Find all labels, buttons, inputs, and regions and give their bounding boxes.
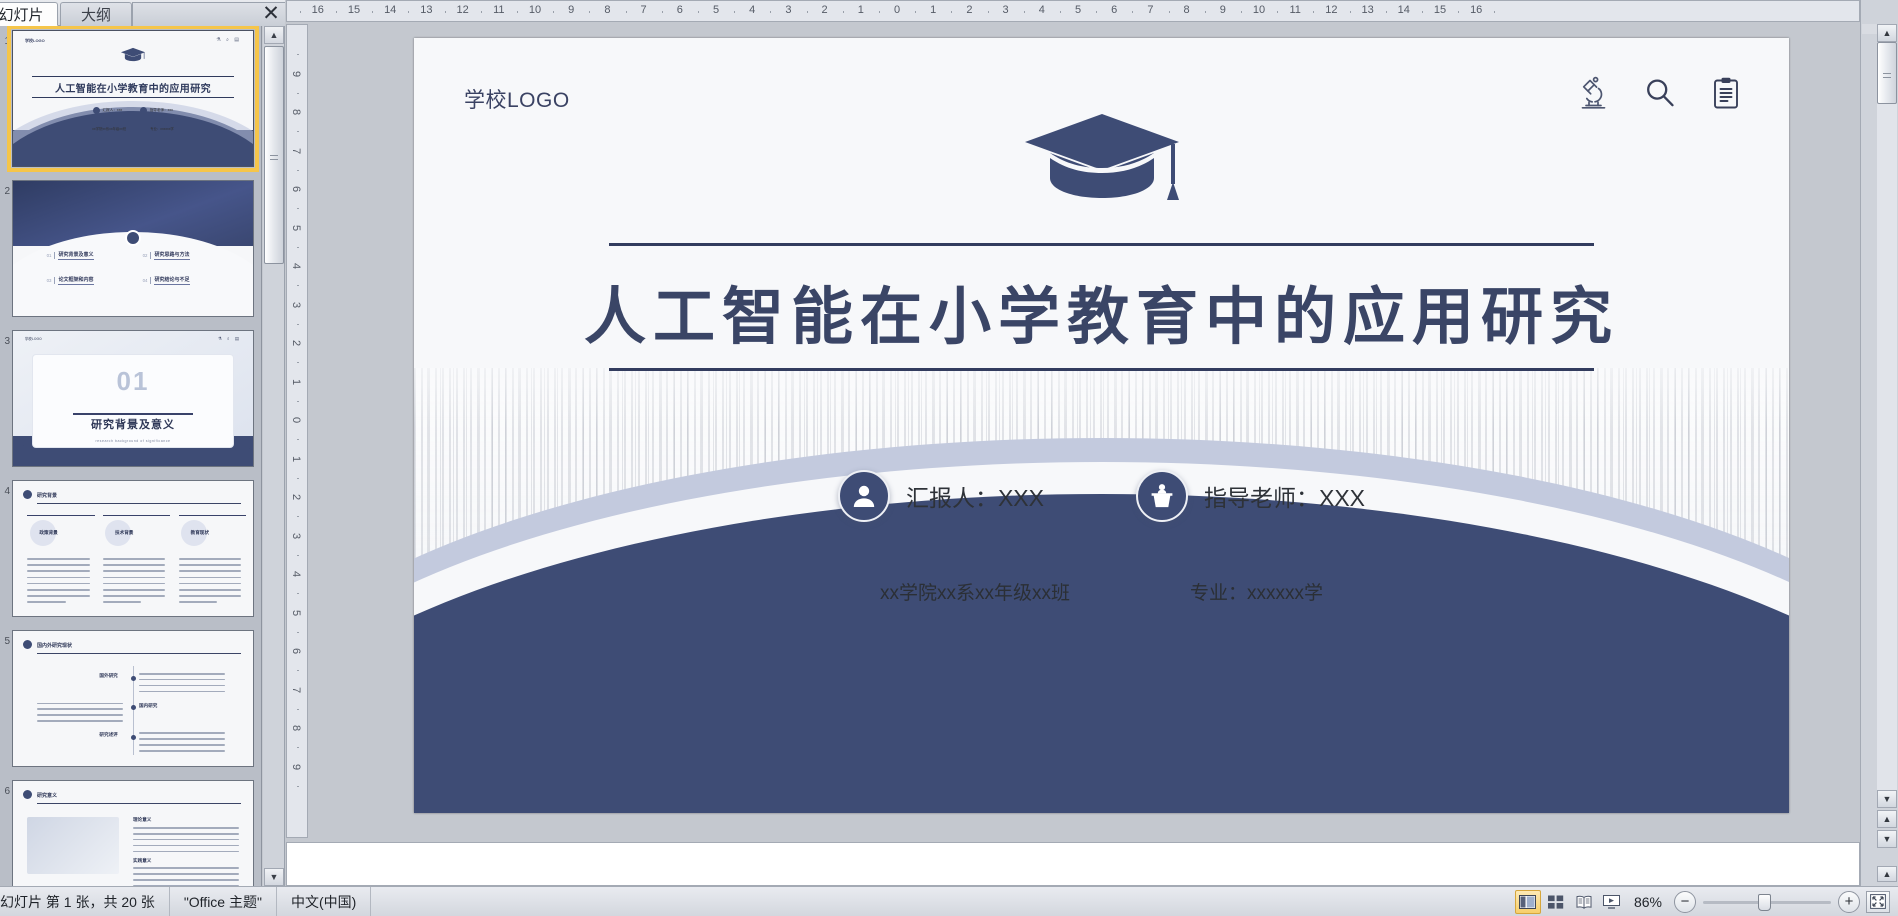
fit-to-window-icon — [1870, 894, 1886, 909]
ruler-minor-tick — [662, 11, 663, 13]
mini-body-line — [179, 601, 217, 603]
ruler-minor-tick — [297, 632, 299, 633]
ruler-minor-tick — [589, 11, 590, 13]
thumbnail-scroll-up-button[interactable]: ▲ — [264, 26, 284, 44]
ruler-tick-label: 14 — [384, 4, 396, 16]
mini-section-number: 01 — [13, 366, 253, 397]
mini-toc-item: 02研究思路与方法 — [143, 251, 190, 260]
mini-toc-label: 研究结论与不足 — [154, 276, 189, 285]
ruler-minor-tick — [517, 11, 518, 13]
ruler-tick-label: 2 — [822, 4, 828, 16]
ruler-tick-label: 3 — [290, 532, 302, 538]
ruler-minor-tick — [297, 362, 299, 363]
slide-thumbnail-item[interactable]: 5国内外研究现状国外研究国内研究研究述评 — [0, 630, 262, 767]
slide-thumbnail-preview[interactable]: 学校LOGO⚗ ⌕ ▤人工智能在小学教育中的应用研究汇报人：xxx指导老师：xx… — [12, 30, 254, 167]
ruler-tick-label: 5 — [290, 224, 302, 230]
school-logo-text[interactable]: 学校LOGO — [464, 84, 570, 114]
ruler-minor-tick — [1494, 11, 1495, 13]
mini-body-line — [27, 564, 89, 566]
ruler-tick-label: 4 — [290, 571, 302, 577]
ruler-minor-tick — [1241, 11, 1242, 13]
zoom-in-button[interactable]: + — [1838, 891, 1860, 913]
mini-body-line — [133, 879, 239, 881]
mini-body-line — [103, 595, 165, 597]
mini-toc-number: 03 — [47, 278, 52, 283]
mini-item-label: 实践意义 — [133, 858, 151, 864]
ruler-minor-tick — [734, 11, 735, 13]
slideshow-view-button[interactable] — [1599, 890, 1625, 914]
ruler-minor-tick — [297, 93, 299, 94]
mini-body-line — [139, 673, 225, 675]
ruler-minor-tick — [879, 11, 880, 13]
ruler-minor-tick — [297, 747, 299, 748]
next-slide-button[interactable]: ▼ — [1877, 830, 1897, 848]
mini-col-rule — [179, 515, 246, 516]
ruler-minor-tick — [1350, 11, 1351, 13]
mini-col-label: 技术背景 — [115, 530, 133, 536]
ruler-tick-label: 3 — [785, 4, 791, 16]
graduation-cap-icon — [1019, 110, 1185, 207]
mini-body-line — [37, 720, 123, 722]
ruler-minor-tick — [1313, 11, 1314, 13]
ruler-minor-tick — [297, 285, 299, 286]
mini-body-line — [139, 744, 225, 746]
thumbnail-scrollbar-thumb[interactable] — [264, 46, 284, 264]
slide-thumbnail-number: 2 — [0, 180, 10, 197]
ruler-minor-tick — [297, 670, 299, 671]
mini-badge-icon — [125, 230, 141, 246]
ruler-tick-label: 6 — [290, 186, 302, 192]
mini-cap-icon — [120, 47, 146, 67]
ruler-minor-tick — [297, 401, 299, 402]
ruler-tick-label: 8 — [290, 725, 302, 731]
ruler-minor-tick — [1422, 11, 1423, 13]
mini-header-badge — [23, 640, 32, 649]
presenter-advisor[interactable]: 指导老师：XXX — [1136, 470, 1365, 522]
mini-body-line — [133, 827, 239, 829]
mini-body-line — [179, 577, 241, 579]
chevron-up-icon: ▲ — [1883, 28, 1892, 38]
current-slide[interactable]: 学校LOGO — [414, 38, 1789, 813]
mini-presenter-row: 汇报人：xxx指导老师：xxx — [13, 107, 253, 114]
ruler-minor-tick — [1386, 11, 1387, 13]
ruler-minor-tick — [1205, 11, 1206, 13]
scrollbar-track[interactable] — [1877, 42, 1897, 790]
status-bar: 幻灯片 第 1 张，共 20 张 "Office 主题" 中文(中国) — [0, 886, 1898, 916]
double-chevron-up-icon: ▲ — [1883, 814, 1892, 824]
slide-thumbnail-canvas: 研究背景政策背景技术背景教育现状 — [13, 481, 253, 616]
mini-body-line — [139, 750, 225, 752]
scroll-up-button[interactable]: ▲ — [1877, 24, 1897, 42]
mini-toc-label: 研究背景及意义 — [58, 251, 93, 260]
ruler-tick-label: 8 — [1184, 4, 1190, 16]
ruler-minor-tick — [626, 11, 627, 13]
mini-presenter-icon — [93, 107, 100, 114]
mini-header-badge — [23, 490, 32, 499]
vertical-ruler: 9876543210123456789 — [286, 24, 308, 838]
mini-logo-text: 学校LOGO — [25, 38, 45, 44]
reading-view-icon — [1576, 895, 1592, 909]
mini-presenter: 指导老师：xxx — [140, 107, 173, 114]
mini-toc-number: 01 — [47, 253, 52, 258]
ruler-minor-tick — [297, 593, 299, 594]
slide-thumbnail-item[interactable]: 201研究背景及意义02研究思路与方法03论文框架和内容04研究结论与不足 — [0, 180, 262, 317]
mini-rule-bottom — [32, 97, 234, 98]
slide-thumbnail-panel[interactable]: 1学校LOGO⚗ ⌕ ▤人工智能在小学教育中的应用研究汇报人：xxx指导老师：x… — [0, 26, 262, 886]
slide-title[interactable]: 人工智能在小学教育中的应用研究 — [414, 266, 1789, 356]
ruler-tick-label: 1 — [930, 4, 936, 16]
ruler-minor-tick — [297, 786, 299, 787]
ruler-tick-label: 14 — [1398, 4, 1410, 16]
mini-header-title: 研究意义 — [37, 792, 57, 799]
panel-tab-strip: 幻灯片 大纲 ✕ — [0, 0, 285, 26]
mini-section-title: 研究背景及意义 — [13, 416, 253, 432]
mini-body-line — [103, 558, 165, 560]
thumbnail-scroll-down-button[interactable]: ▼ — [264, 868, 284, 886]
ruler-tick-label: 4 — [290, 263, 302, 269]
status-theme-label: "Office 主题" — [184, 892, 262, 912]
mini-body-line — [179, 564, 241, 566]
ruler-minor-tick — [297, 516, 299, 517]
mini-section-rule — [73, 413, 193, 414]
slide-sorter-icon — [1548, 895, 1564, 909]
mini-presenter-label: 指导老师：xxx — [150, 108, 173, 113]
ruler-tick-label: 6 — [677, 4, 683, 16]
slide-thumbnail-preview[interactable]: 研究意义理论意义实践意义 — [12, 780, 254, 886]
slide-thumbnail-canvas: 学校LOGO⚗ ⌕ ▤人工智能在小学教育中的应用研究汇报人：xxx指导老师：xx… — [13, 31, 253, 166]
normal-view-icon — [1519, 895, 1536, 909]
ruler-tick-label: 0 — [894, 4, 900, 16]
ruler-minor-tick — [843, 11, 844, 13]
mini-presenter-icon — [140, 107, 147, 114]
ruler-tick-label: 15 — [348, 4, 360, 16]
mini-slide-title: 人工智能在小学教育中的应用研究 — [32, 80, 234, 95]
mini-toc-divider — [150, 252, 151, 259]
ruler-minor-tick — [297, 170, 299, 171]
mini-timeline-dot — [131, 735, 136, 740]
mini-affiliation: xx学院xx系xx年级xx班 — [92, 126, 126, 131]
double-chevron-down-icon: ▼ — [1883, 834, 1892, 844]
presenter-reporter-label: 汇报人：XXX — [906, 479, 1044, 513]
ruler-minor-tick — [297, 131, 299, 132]
slide-sorter-view-button[interactable] — [1543, 890, 1569, 914]
mini-body-line — [179, 583, 241, 585]
chevron-down-icon: ▼ — [270, 872, 279, 882]
mini-body-line — [179, 595, 241, 597]
mini-rule-top — [32, 76, 234, 77]
slideshow-icon — [1603, 895, 1620, 909]
mini-timeline-label: 研究述评 — [99, 732, 117, 738]
notes-scroll-up-button[interactable]: ▲ — [1877, 866, 1897, 882]
ruler-tick-label: 2 — [966, 4, 972, 16]
mini-photo-image — [27, 817, 118, 874]
ruler-tick-label: 15 — [1434, 4, 1446, 16]
zoom-percentage: 86% — [1626, 894, 1674, 910]
slide-thumbnail-canvas: 国内外研究现状国外研究国内研究研究述评 — [13, 631, 253, 766]
ruler-minor-tick — [698, 11, 699, 13]
ruler-minor-tick — [915, 11, 916, 13]
zoom-slider-handle[interactable] — [1758, 894, 1771, 911]
slide-thumbnail-number: 3 — [0, 330, 10, 347]
person-icon — [838, 470, 890, 522]
tab-slides[interactable]: 幻灯片 — [0, 2, 58, 26]
ruler-tick-label: 9 — [568, 4, 574, 16]
slide-thumbnail-canvas: 01研究背景及意义02研究思路与方法03论文框架和内容04研究结论与不足 — [13, 181, 253, 316]
ruler-minor-tick — [297, 324, 299, 325]
mini-toc-item: 01研究背景及意义 — [47, 251, 94, 260]
reading-view-button[interactable] — [1571, 890, 1597, 914]
tab-slides-label: 幻灯片 — [0, 4, 44, 25]
scroll-down-button[interactable]: ▼ — [1877, 790, 1897, 808]
slide-thumbnail-item[interactable]: 4研究背景政策背景技术背景教育现状 — [0, 480, 262, 617]
mini-header-badge — [23, 790, 32, 799]
slide-thumbnail-number: 4 — [0, 480, 10, 497]
slide-thumbnail-number: 5 — [0, 630, 10, 647]
ruler-tick-label: 10 — [529, 4, 541, 16]
mini-presenter-label: 汇报人：xxx — [102, 108, 122, 113]
mini-col-label: 政策背景 — [39, 530, 57, 536]
ruler-tick-label: 4 — [1039, 4, 1045, 16]
chevron-up-icon: ▲ — [1883, 869, 1892, 879]
minus-icon: − — [1681, 894, 1690, 909]
mini-body-line — [103, 589, 165, 591]
search-icon — [1643, 76, 1677, 110]
status-language[interactable]: 中文(中国) — [277, 887, 371, 916]
mini-body-line — [103, 564, 165, 566]
mini-body-line — [103, 601, 141, 603]
previous-slide-button[interactable]: ▲ — [1877, 810, 1897, 828]
mini-col-rule — [103, 515, 170, 516]
mini-timeline-dot — [131, 705, 136, 710]
ruler-tick-label: 7 — [1147, 4, 1153, 16]
ruler-tick-label: 4 — [749, 4, 755, 16]
ruler-minor-tick — [408, 11, 409, 13]
plus-icon: + — [1845, 894, 1854, 909]
mini-body-line — [37, 703, 123, 705]
mini-toc-divider — [54, 277, 55, 284]
mini-toc-divider — [150, 277, 151, 284]
mini-body-line — [103, 577, 165, 579]
slide-thumbnail-number: 6 — [0, 780, 10, 797]
presenter-advisor-label: 指导老师：XXX — [1204, 479, 1365, 513]
ruler-minor-tick — [297, 439, 299, 440]
ruler-tick-label: 8 — [604, 4, 610, 16]
mini-timeline-label: 国外研究 — [99, 673, 117, 679]
ruler-tick-label: 13 — [420, 4, 432, 16]
tab-outline-label: 大纲 — [81, 4, 111, 25]
mini-body-line — [27, 577, 89, 579]
mini-body-line — [133, 833, 239, 835]
ruler-tick-label: 12 — [1325, 4, 1337, 16]
ruler-minor-tick — [445, 11, 446, 13]
zoom-slider[interactable] — [1703, 887, 1831, 916]
ruler-tick-label: 0 — [290, 417, 302, 423]
mini-presenter: 汇报人：xxx — [93, 107, 122, 114]
ruler-tick-label: 7 — [290, 686, 302, 692]
mini-header-title: 国内外研究现状 — [37, 642, 72, 649]
mini-body-line — [133, 851, 239, 853]
ruler-minor-tick — [1169, 11, 1170, 13]
thumbnail-panel-scrollbar[interactable]: ▲ ▼ — [263, 26, 285, 886]
ruler-tick-label: 2 — [290, 494, 302, 500]
mini-body-line — [133, 839, 239, 841]
mini-toc-divider — [54, 252, 55, 259]
mini-affiliation: 专业：xxxxxx学 — [150, 126, 174, 131]
class-affiliation[interactable]: xx学院xx系xx年级xx班 — [880, 578, 1070, 605]
ruler-minor-tick — [807, 11, 808, 13]
mini-body-line — [37, 708, 123, 710]
mini-body-line — [27, 583, 89, 585]
slide-thumbnail-preview[interactable]: 学校LOGO⚗ ⌕ ▤01研究背景及意义research background … — [12, 330, 254, 467]
ruler-minor-tick — [297, 247, 299, 248]
ruler-minor-tick — [372, 11, 373, 13]
close-icon: ✕ — [262, 1, 280, 26]
zoom-out-button[interactable]: − — [1674, 891, 1696, 913]
ruler-minor-tick — [1096, 11, 1097, 13]
ruler-minor-tick — [553, 11, 554, 13]
ruler-tick-label: 3 — [1003, 4, 1009, 16]
ruler-minor-tick — [770, 11, 771, 13]
mini-affiliation-row: xx学院xx系xx年级xx班专业：xxxxxx学 — [13, 126, 253, 131]
slide-thumbnail-item[interactable]: 1学校LOGO⚗ ⌕ ▤人工智能在小学教育中的应用研究汇报人：xxx指导老师：x… — [0, 30, 262, 167]
ruler-tick-label: 11 — [1289, 4, 1300, 16]
mini-body-line — [139, 738, 225, 740]
ruler-tick-label: 5 — [290, 609, 302, 615]
ruler-minor-tick — [951, 11, 952, 13]
ruler-tick-label: 1 — [290, 455, 302, 461]
ruler-minor-tick — [1024, 11, 1025, 13]
title-rule-bottom — [609, 368, 1594, 371]
mini-logo-text: 学校LOGO — [25, 336, 42, 341]
mini-header-rule — [37, 653, 241, 654]
status-theme[interactable]: "Office 主题" — [170, 887, 277, 916]
status-bar-right-group: 86% − + — [1514, 887, 1898, 916]
ruler-minor-tick — [297, 208, 299, 209]
ruler-tick-label: 7 — [641, 4, 647, 16]
affiliation-row: xx学院xx系xx年级xx班 专业：xxxxxx学 — [414, 578, 1789, 605]
ruler-tick-label: 8 — [290, 109, 302, 115]
ruler-minor-tick — [1277, 11, 1278, 13]
main-vertical-scrollbar[interactable]: ▲ ▼ ▲ ▼ ▲ — [1860, 0, 1898, 886]
ruler-tick-label: 5 — [713, 4, 719, 16]
mini-timeline-dot — [131, 676, 136, 681]
mini-body-line — [27, 595, 89, 597]
ruler-tick-label: 9 — [1220, 4, 1226, 16]
chevron-up-icon: ▲ — [270, 30, 279, 40]
mini-body-line — [179, 558, 241, 560]
mini-item-label: 理论意义 — [133, 817, 151, 823]
mini-toc-label: 论文框架和内容 — [58, 276, 93, 285]
mini-body-line — [139, 685, 225, 687]
ruler-tick-label: 10 — [1253, 4, 1265, 16]
ruler-minor-tick — [1060, 11, 1061, 13]
mini-body-line — [139, 691, 225, 693]
ruler-tick-label: 9 — [290, 70, 302, 76]
ruler-tick-label: 16 — [312, 4, 324, 16]
ruler-tick-label: 6 — [1111, 4, 1117, 16]
mini-body-line — [27, 558, 89, 560]
slide-thumbnail-canvas: 学校LOGO⚗ ⌕ ▤01研究背景及意义research background … — [13, 331, 253, 466]
ruler-tick-label: 3 — [290, 301, 302, 307]
mini-body-line — [27, 589, 89, 591]
close-panel-button[interactable]: ✕ — [258, 0, 284, 26]
scrollbar-thumb[interactable] — [1877, 42, 1897, 104]
ruler-tick-label: 1 — [858, 4, 864, 16]
mini-body-line — [139, 679, 225, 681]
ruler-tick-label: 1 — [290, 378, 302, 384]
mini-toc-item: 04研究结论与不足 — [143, 276, 190, 285]
mini-header-rule — [37, 803, 241, 804]
major-affiliation[interactable]: 专业：xxxxxx学 — [1190, 578, 1323, 605]
slide-thumbnail-item[interactable]: 3学校LOGO⚗ ⌕ ▤01研究背景及意义research background… — [0, 330, 262, 467]
horizontal-ruler: 1615141312111098765432101234567891011121… — [286, 0, 1860, 22]
ruler-minor-tick — [1458, 11, 1459, 13]
mini-icon-row: ⚗ ⌕ ▤ — [216, 37, 241, 43]
mini-toc-number: 02 — [143, 253, 148, 258]
status-slide-count: 幻灯片 第 1 张，共 20 张 — [0, 887, 170, 916]
slide-canvas-area[interactable]: 学校LOGO — [309, 24, 1860, 838]
ruler-tick-label: 13 — [1361, 4, 1373, 16]
normal-view-button[interactable] — [1515, 890, 1541, 914]
mini-timeline-label: 国内研究 — [139, 703, 157, 709]
presenter-reporter[interactable]: 汇报人：XXX — [838, 470, 1044, 522]
ruler-minor-tick — [297, 709, 299, 710]
mini-body-line — [133, 867, 239, 869]
ruler-minor-tick — [300, 11, 301, 13]
ruler-tick-label: 6 — [290, 648, 302, 654]
presenter-row: 汇报人：XXX 指导老师：XXX — [414, 470, 1789, 522]
mini-header-rule — [37, 503, 241, 504]
slide-thumbnail-preview[interactable]: 01研究背景及意义02研究思路与方法03论文框架和内容04研究结论与不足 — [12, 180, 254, 317]
fit-slide-to-window-button[interactable] — [1866, 891, 1890, 913]
slide-thumbnail-item[interactable]: 6研究意义理论意义实践意义 — [0, 780, 262, 886]
slide-thumbnail-number: 1 — [0, 30, 10, 47]
mini-body-line — [133, 873, 239, 875]
status-language-label: 中文(中国) — [291, 892, 356, 912]
mini-body-line — [179, 570, 241, 572]
ruler-tick-label: 12 — [456, 4, 468, 16]
ruler-minor-tick — [988, 11, 989, 13]
title-rule-top — [609, 243, 1594, 246]
ruler-tick-label: 16 — [1470, 4, 1482, 16]
ruler-minor-tick — [336, 11, 337, 13]
mini-body-line — [27, 601, 65, 603]
tab-outline[interactable]: 大纲 — [60, 2, 132, 26]
ruler-tick-label: 7 — [290, 147, 302, 153]
mini-body-line — [103, 570, 165, 572]
mini-body-line — [133, 845, 239, 847]
ruler-minor-tick — [297, 54, 299, 55]
slide-thumbnail-preview[interactable]: 研究背景政策背景技术背景教育现状 — [12, 480, 254, 617]
lectern-icon — [1136, 470, 1188, 522]
mini-body-line — [27, 570, 89, 572]
speaker-notes-pane[interactable] — [286, 842, 1860, 886]
slide-thumbnail-preview[interactable]: 国内外研究现状国外研究国内研究研究述评 — [12, 630, 254, 767]
mini-icon-row: ⚗ ⌕ ▤ — [218, 336, 241, 342]
ruler-tick-label: 11 — [493, 4, 504, 16]
ruler-minor-tick — [297, 555, 299, 556]
mini-header-title: 研究背景 — [37, 492, 57, 499]
mini-section-subtitle: research background of significance — [13, 439, 253, 443]
ruler-tick-label: 5 — [1075, 4, 1081, 16]
microscope-icon — [1577, 76, 1609, 110]
mini-col-rule — [27, 515, 94, 516]
ruler-minor-tick — [481, 11, 482, 13]
scrollbar-grip-icon — [1883, 73, 1891, 78]
scrollbar-grip-icon — [270, 155, 278, 160]
mini-toc-number: 04 — [143, 278, 148, 283]
mini-body-line — [103, 583, 165, 585]
